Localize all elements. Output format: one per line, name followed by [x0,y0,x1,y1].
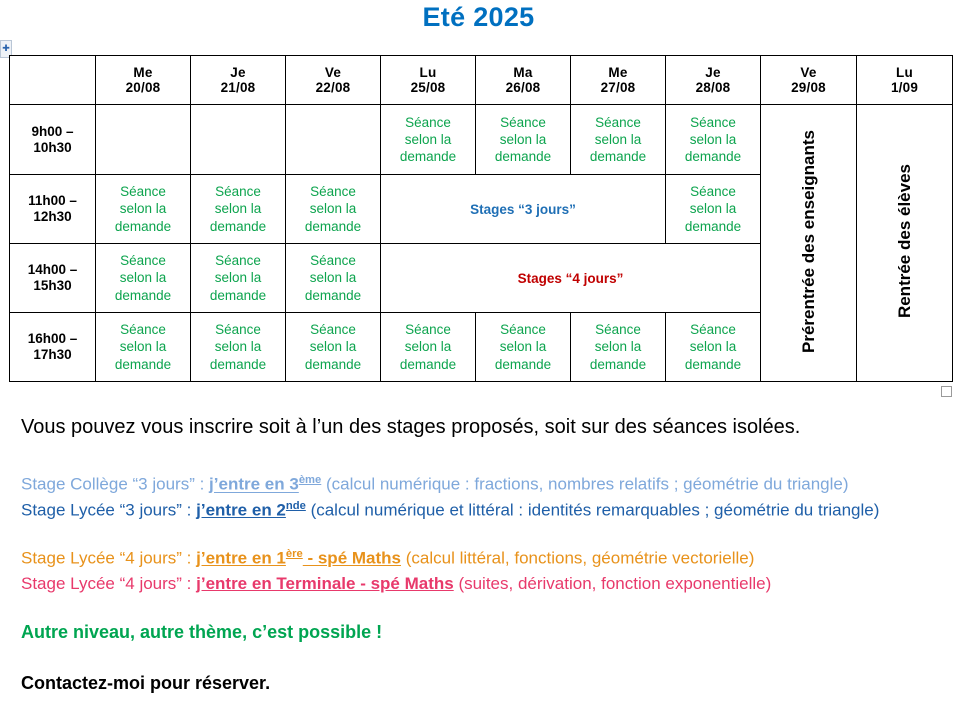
cell-r0-c6-seance[interactable]: Séance selon la demande [666,105,761,175]
stage-sup: ère [286,548,303,560]
stage-suffix: (calcul littéral, fonctions, géométrie v… [401,549,754,568]
stage-prefix: Stage Lycée “3 jours” : [21,501,196,520]
stage-line-lycee-4-jours-terminale: Stage Lycée “4 jours” : j’entre en Termi… [21,574,771,594]
column-header-ma-2608: Ma 26/08 [476,56,571,105]
cell-r1-c6-seance[interactable]: Séance selon la demande [666,175,761,244]
cell-r2-c0-seance[interactable]: Séance selon la demande [96,244,191,313]
seance-line2: selon la [286,200,380,217]
cell-r3-c1-seance[interactable]: Séance selon la demande [191,313,286,382]
cell-r0-c1-empty[interactable] [191,105,286,175]
seance-line1: Séance [96,252,190,269]
header-day: Je [666,65,760,80]
stage-prefix: Stage Lycée “4 jours” : [21,549,196,568]
stage-line-lycee-4-jours-premiere: Stage Lycée “4 jours” : j’entre en 1ère … [21,548,754,569]
seance-line3: demande [666,218,760,235]
stage-line-college-3-jours: Stage Collège “3 jours” : j’entre en 3èm… [21,474,849,495]
seance-line3: demande [286,356,380,373]
header-day: Ve [286,65,380,80]
row-time-label-1100: 11h00 – 12h30 [10,175,96,244]
schedule-table: Me 20/08 Je 21/08 Ve 22/08 Lu 25/08 Ma 2… [9,55,953,382]
seance-line1: Séance [571,321,665,338]
cell-r2-c1-seance[interactable]: Séance selon la demande [191,244,286,313]
seance-line1: Séance [96,321,190,338]
seance-line1: Séance [381,321,475,338]
time-from: 11h00 – [10,193,95,209]
seance-line3: demande [571,356,665,373]
seance-line2: selon la [191,338,285,355]
seance-line3: demande [666,148,760,165]
cell-r0-c4-seance[interactable]: Séance selon la demande [476,105,571,175]
row-time-label-1600: 16h00 – 17h30 [10,313,96,382]
seance-line3: demande [476,356,570,373]
seance-line1: Séance [666,183,760,200]
time-from: 14h00 – [10,262,95,278]
cell-r3-c3-seance[interactable]: Séance selon la demande [381,313,476,382]
header-day: Lu [381,65,475,80]
table-resize-handle[interactable] [941,386,952,397]
cell-prerentree-enseignants[interactable]: Prérentrée des enseignants [761,105,857,382]
seance-line2: selon la [571,338,665,355]
seance-line2: selon la [96,338,190,355]
stage-suffix: (calcul numérique et littéral : identité… [306,501,880,520]
column-header-lu-2508: Lu 25/08 [381,56,476,105]
stage-line-lycee-3-jours: Stage Lycée “3 jours” : j’entre en 2nde … [21,500,879,521]
cell-r1-c1-seance[interactable]: Séance selon la demande [191,175,286,244]
cell-r0-c5-seance[interactable]: Séance selon la demande [571,105,666,175]
seance-line2: selon la [286,338,380,355]
contact-text: Contactez-moi pour réserver. [21,673,270,694]
header-date: 26/08 [476,80,570,95]
cell-r2-c2-seance[interactable]: Séance selon la demande [286,244,381,313]
seance-line1: Séance [381,114,475,131]
autre-niveau-text: Autre niveau, autre thème, c’est possibl… [21,622,382,643]
seance-line3: demande [571,148,665,165]
cell-r0-c0-empty[interactable] [96,105,191,175]
cell-r3-c6-seance[interactable]: Séance selon la demande [666,313,761,382]
seance-line2: selon la [381,131,475,148]
seance-line1: Séance [666,114,760,131]
seance-line2: selon la [191,269,285,286]
row-time-label-1400: 14h00 – 15h30 [10,244,96,313]
header-date: 22/08 [286,80,380,95]
cell-r1-c0-seance[interactable]: Séance selon la demande [96,175,191,244]
seance-line1: Séance [286,183,380,200]
stage-highlight: j’entre en 1 [196,549,286,568]
seance-line1: Séance [286,252,380,269]
stage-suffix: (suites, dérivation, fonction exponentie… [454,574,772,593]
time-to: 10h30 [10,140,95,156]
cell-r0-c2-empty[interactable] [286,105,381,175]
cell-r3-c4-seance[interactable]: Séance selon la demande [476,313,571,382]
header-day: Ve [761,65,856,80]
vertical-label-rentree: Rentrée des élèves [896,164,913,318]
seance-line1: Séance [96,183,190,200]
stage-suffix: (calcul numérique : fractions, nombres r… [321,475,848,494]
seance-line3: demande [286,287,380,304]
seance-line3: demande [286,218,380,235]
time-from: 9h00 – [10,124,95,140]
cell-r1-c2-seance[interactable]: Séance selon la demande [286,175,381,244]
seance-line1: Séance [476,114,570,131]
seance-line3: demande [476,148,570,165]
stage-prefix: Stage Collège “3 jours” : [21,475,209,494]
seance-line3: demande [666,356,760,373]
column-header-je-2108: Je 21/08 [191,56,286,105]
stage-prefix: Stage Lycée “4 jours” : [21,574,196,593]
seance-line2: selon la [666,131,760,148]
seance-line1: Séance [191,321,285,338]
stage-highlight: j’entre en Terminale - spé Maths [196,574,454,593]
cell-stages-4-jours[interactable]: Stages “4 jours” [381,244,761,313]
seance-line2: selon la [666,338,760,355]
seance-line3: demande [381,148,475,165]
header-day: Je [191,65,285,80]
page-title: Eté 2025 [0,2,957,33]
column-header-je-2808: Je 28/08 [666,56,761,105]
seance-line3: demande [96,287,190,304]
time-to: 15h30 [10,278,95,294]
header-day: Me [571,65,665,80]
seance-line3: demande [96,356,190,373]
cell-r3-c5-seance[interactable]: Séance selon la demande [571,313,666,382]
vertical-label-prerentree: Prérentrée des enseignants [800,130,817,353]
table-corner-cell [10,56,96,105]
header-date: 27/08 [571,80,665,95]
header-date: 28/08 [666,80,760,95]
table-row-0900-1030: 9h00 – 10h30 Séance selon la demande Séa… [10,105,953,175]
stage-highlight: j’entre en 2 [196,501,286,520]
time-to: 17h30 [10,347,95,363]
seance-line2: selon la [96,200,190,217]
seance-line3: demande [191,356,285,373]
column-header-me-2008: Me 20/08 [96,56,191,105]
seance-line3: demande [96,218,190,235]
cell-r3-c0-seance[interactable]: Séance selon la demande [96,313,191,382]
seance-line3: demande [191,218,285,235]
seance-line1: Séance [191,183,285,200]
column-header-ve-2208: Ve 22/08 [286,56,381,105]
header-day: Ma [476,65,570,80]
stage-highlight-2: - spé Maths [303,549,401,568]
header-date: 20/08 [96,80,190,95]
seance-line1: Séance [191,252,285,269]
seance-line2: selon la [571,131,665,148]
seance-line2: selon la [476,131,570,148]
seance-line1: Séance [286,321,380,338]
seance-line1: Séance [476,321,570,338]
table-header-row: Me 20/08 Je 21/08 Ve 22/08 Lu 25/08 Ma 2… [10,56,953,105]
stage-sup: nde [286,500,306,512]
time-to: 12h30 [10,209,95,225]
column-header-ve-2908: Ve 29/08 [761,56,857,105]
column-header-lu-0109: Lu 1/09 [857,56,953,105]
seance-line3: demande [381,356,475,373]
row-time-label-0900: 9h00 – 10h30 [10,105,96,175]
time-from: 16h00 – [10,331,95,347]
seance-line2: selon la [381,338,475,355]
header-day: Lu [857,65,952,80]
seance-line3: demande [191,287,285,304]
cell-r3-c2-seance[interactable]: Séance selon la demande [286,313,381,382]
header-date: 25/08 [381,80,475,95]
seance-line2: selon la [666,200,760,217]
stage-highlight: j’entre en 3 [209,475,299,494]
header-date: 1/09 [857,80,952,95]
header-date: 29/08 [761,80,856,95]
header-date: 21/08 [191,80,285,95]
seance-line1: Séance [571,114,665,131]
column-header-me-2708: Me 27/08 [571,56,666,105]
seance-line1: Séance [666,321,760,338]
cell-r0-c3-seance[interactable]: Séance selon la demande [381,105,476,175]
seance-line2: selon la [191,200,285,217]
cell-rentree-eleves[interactable]: Rentrée des élèves [857,105,953,382]
stage-sup: ème [299,474,321,486]
seance-line2: selon la [476,338,570,355]
seance-line2: selon la [96,269,190,286]
header-day: Me [96,65,190,80]
intro-paragraph: Vous pouvez vous inscrire soit à l’un de… [21,416,800,439]
cell-stages-3-jours[interactable]: Stages “3 jours” [381,175,666,244]
seance-line2: selon la [286,269,380,286]
